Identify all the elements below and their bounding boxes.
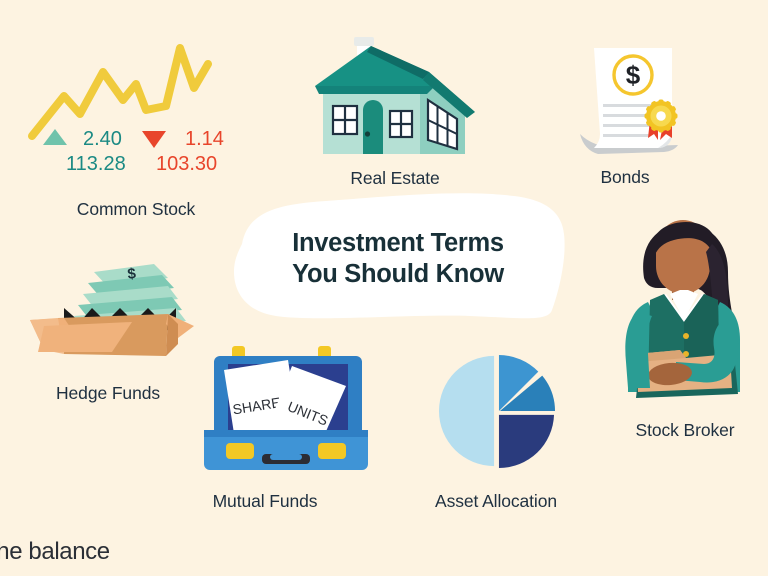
label-asset-allocation: Asset Allocation: [400, 491, 592, 512]
ticker-up-arrow: [42, 127, 68, 147]
item-asset-allocation: [438, 352, 556, 470]
item-real-estate: [305, 32, 485, 162]
pie-chart-icon: [438, 352, 556, 470]
broker-person-icon: STOCKS: [608, 222, 758, 412]
label-bonds: Bonds: [545, 167, 705, 188]
triangle-up-icon: [42, 127, 68, 147]
ticker-down-arrow: [141, 129, 167, 149]
certificate-icon: $: [578, 42, 690, 162]
dollar-symbol: $: [626, 60, 641, 90]
ticker-down-price: 103.30: [156, 153, 217, 176]
item-stock-broker: STOCKS: [608, 222, 758, 412]
label-mutual-funds: Mutual Funds: [180, 491, 350, 512]
briefcase-icon: SHARES UNITS: [200, 342, 376, 482]
site-logo: the balance: [0, 538, 110, 566]
ticker-down-change: 1.14: [185, 128, 224, 151]
house-icon: [305, 32, 485, 162]
ticker-up-price: 113.28: [66, 153, 126, 176]
infographic-canvas: 2.40 113.28 1.14 103.30 Common Stock: [0, 0, 768, 576]
item-common-stock: [28, 40, 228, 140]
item-hedge-funds: $: [28, 252, 196, 362]
triangle-down-icon: [141, 129, 167, 149]
item-mutual-funds: SHARES UNITS: [200, 342, 376, 482]
item-bonds: $: [578, 42, 690, 162]
label-stock-broker: Stock Broker: [592, 420, 768, 441]
stock-chart-icon: [28, 40, 228, 140]
ticker-up-change: 2.40: [83, 128, 122, 151]
banner-title-line2: You Should Know: [222, 259, 574, 290]
label-hedge-funds: Hedge Funds: [0, 383, 216, 404]
banner-title-line1: Investment Terms: [222, 228, 574, 259]
box-of-money-icon: $: [28, 252, 196, 362]
